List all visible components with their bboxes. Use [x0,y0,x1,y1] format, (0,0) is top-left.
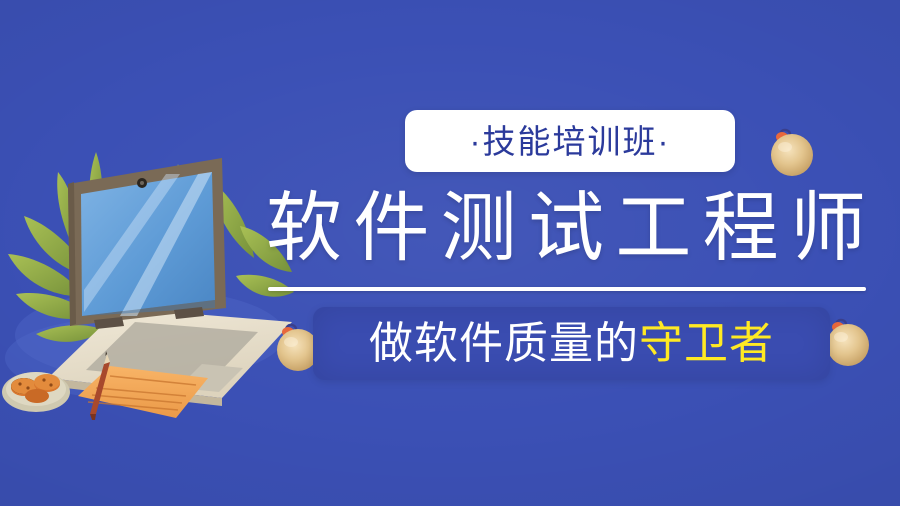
title-char-6: 程 [703,191,779,267]
ornament-ball-top-right [762,123,818,179]
badge-label: ·技能培训班· [470,125,671,158]
title-char-3: 测 [441,191,517,267]
subtitle-highlight: 守卫者 [639,319,774,368]
page-title: 软 件 测 试 工 程 师 [266,186,866,272]
course-type-badge: ·技能培训班· [405,110,735,172]
subtitle-lead: 做软件质量的 [369,319,639,368]
subtitle-text: 做软件质量的守卫者 [369,322,774,366]
title-char-5: 工 [615,191,691,267]
plate-with-cookies [2,372,70,412]
title-char-1: 软 [266,191,342,267]
laptop-desk-illustration [0,130,300,420]
title-char-7: 师 [790,191,866,267]
title-char-4: 试 [528,191,604,267]
title-char-2: 件 [353,191,429,267]
subtitle-banner: 做软件质量的守卫者 [313,307,830,380]
title-divider [268,287,866,291]
poster-root: ·技能培训班· 软 件 测 试 工 程 师 做软件质量的守卫者 [0,0,900,506]
laptop-screen-assembly [68,158,226,329]
